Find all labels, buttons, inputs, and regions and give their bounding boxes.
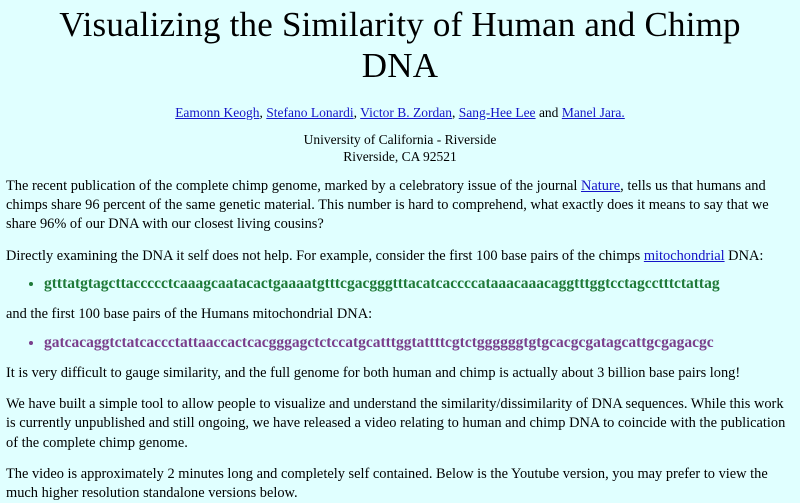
- examine-text-part1: Directly examining the DNA it self does …: [6, 248, 644, 264]
- paragraph-video: The video is approximately 2 minutes lon…: [6, 465, 794, 503]
- chimp-dna-sequence: gtttatgtagcttaccccctcaaagcaatacactgaaaat…: [44, 275, 720, 292]
- list-item: gtttatgtagcttaccccctcaaagcaatacactgaaaat…: [44, 275, 800, 294]
- human-sequence-list: gatcacaggtctatcaccctattaaccactcacgggagct…: [0, 334, 800, 353]
- paragraph-tool: We have built a simple tool to allow peo…: [6, 395, 794, 452]
- intro-text-part1: The recent publication of the complete c…: [6, 178, 581, 194]
- author-link-victor-b-zordan[interactable]: Victor B. Zordan: [360, 105, 452, 120]
- author-list: Eamonn Keogh, Stefano Lonardi, Victor B.…: [0, 105, 800, 121]
- author-link-sang-hee-lee[interactable]: Sang-Hee Lee: [459, 105, 536, 120]
- author-link-stefano-lonardi[interactable]: Stefano Lonardi: [266, 105, 353, 120]
- author-separator: ,: [452, 105, 459, 120]
- mitochondrial-link[interactable]: mitochondrial: [644, 248, 725, 264]
- author-link-manel-jara[interactable]: Manel Jara.: [562, 105, 625, 120]
- page-title: Visualizing the Similarity of Human and …: [30, 4, 770, 87]
- paragraph-intro: The recent publication of the complete c…: [6, 177, 794, 234]
- human-dna-sequence: gatcacaggtctatcaccctattaaccactcacgggagct…: [44, 334, 714, 351]
- paragraph-difficulty: It is very difficult to gauge similarity…: [6, 364, 794, 383]
- paragraph-examine-dna: Directly examining the DNA it self does …: [6, 247, 794, 266]
- affiliation-institution: University of California - Riverside: [0, 131, 800, 148]
- list-item: gatcacaggtctatcaccctattaaccactcacgggagct…: [44, 334, 800, 353]
- page-container: Visualizing the Similarity of Human and …: [0, 4, 800, 503]
- author-separator: and: [536, 105, 562, 120]
- nature-journal-link[interactable]: Nature: [581, 178, 620, 194]
- examine-text-part2: DNA:: [725, 248, 764, 264]
- paragraph-human-intro: and the first 100 base pairs of the Huma…: [6, 305, 794, 324]
- affiliation-block: University of California - Riverside Riv…: [0, 131, 800, 166]
- author-link-eamonn-keogh[interactable]: Eamonn Keogh: [175, 105, 259, 120]
- affiliation-address: Riverside, CA 92521: [0, 148, 800, 165]
- chimp-sequence-list: gtttatgtagcttaccccctcaaagcaatacactgaaaat…: [0, 275, 800, 294]
